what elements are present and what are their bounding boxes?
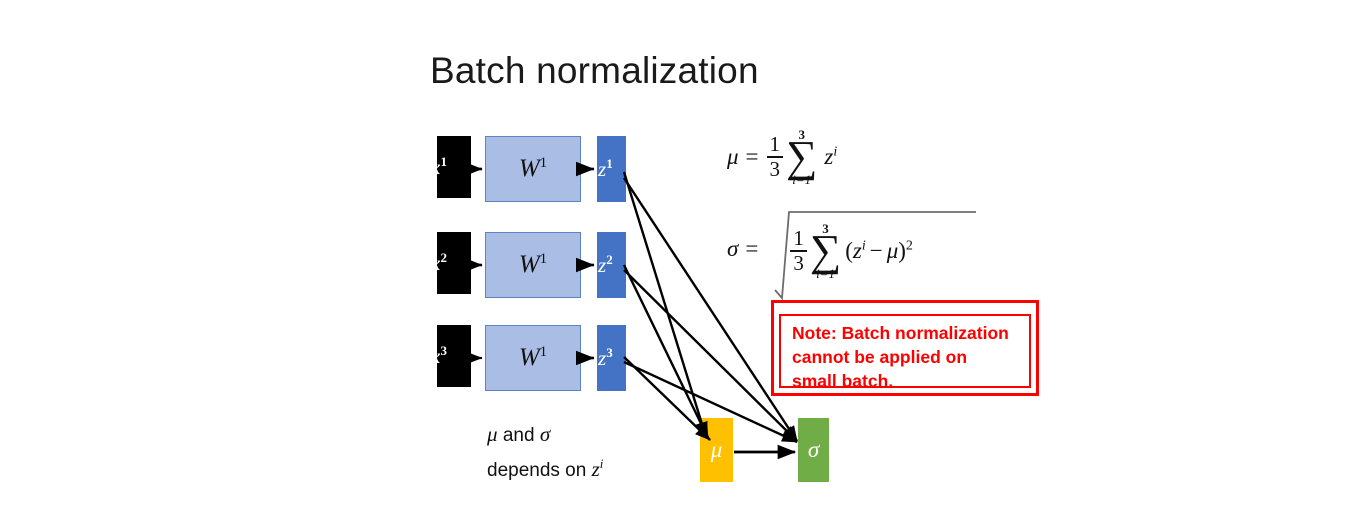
sigma-formula-lhs: σ bbox=[727, 236, 738, 262]
weight-box-w1-row2: W1 bbox=[485, 232, 581, 298]
input-box-x3: x3 bbox=[437, 325, 471, 387]
mu-fraction-numerator: 1 bbox=[767, 134, 784, 156]
caption-line-2: depends on zi bbox=[487, 450, 603, 485]
arrow-z3-to-mu bbox=[624, 357, 710, 440]
mu-formula-equals: = bbox=[746, 144, 759, 170]
sigma-formula: σ = 1 3 3 ∑ i=1 (zi−μ)2 bbox=[727, 218, 913, 280]
arrow-z1-to-mu bbox=[624, 172, 706, 437]
note-callout-inner: Note: Batch normalization cannot be appl… bbox=[779, 314, 1031, 388]
output-box-z2: z2 bbox=[597, 232, 626, 298]
note-text: Note: Batch normalization cannot be appl… bbox=[792, 321, 1024, 393]
mu-box: μ bbox=[700, 418, 733, 482]
mu-fraction-denominator: 3 bbox=[767, 158, 784, 180]
weight-box-w1-row1: W1 bbox=[485, 136, 581, 202]
input-box-x2: x2 bbox=[437, 232, 471, 294]
page-title: Batch normalization bbox=[430, 50, 759, 92]
weight-label-row3: W1 bbox=[486, 344, 580, 372]
mu-summation: 3 ∑ i=1 bbox=[786, 128, 817, 186]
sigma-box: σ bbox=[798, 418, 829, 482]
mu-formula-lhs: μ bbox=[727, 144, 739, 170]
square-root-icon bbox=[773, 202, 978, 310]
summation-icon: ∑ bbox=[786, 140, 817, 174]
mu-box-label: μ bbox=[700, 437, 733, 463]
input-label-x3: x3 bbox=[430, 343, 447, 369]
note-line-1: Note: Batch normalization bbox=[792, 321, 1024, 345]
output-box-z3: z3 bbox=[597, 325, 626, 391]
note-callout-outer: Note: Batch normalization cannot be appl… bbox=[771, 300, 1039, 396]
mu-formula-term: zi bbox=[824, 144, 837, 170]
sigma-radical-group: 1 3 3 ∑ i=1 (zi−μ)2 bbox=[773, 218, 913, 280]
mu-formula-fraction: 1 3 bbox=[767, 134, 784, 180]
note-line-3: small batch. bbox=[792, 369, 1024, 393]
output-box-z1: z1 bbox=[597, 136, 626, 202]
weight-label-row1: W1 bbox=[486, 155, 580, 183]
mu-sum-lower-limit: i=1 bbox=[792, 173, 811, 186]
sigma-box-label: σ bbox=[798, 437, 829, 463]
caption-line-1: μ and σ bbox=[487, 420, 603, 450]
input-label-x1: x1 bbox=[430, 154, 447, 180]
weight-box-w1-row3: W1 bbox=[485, 325, 581, 391]
output-label-z3: z3 bbox=[598, 345, 613, 371]
output-label-z1: z1 bbox=[598, 156, 613, 182]
weight-label-row2: W1 bbox=[486, 251, 580, 279]
sigma-formula-equals: = bbox=[745, 236, 758, 262]
input-box-x1: x1 bbox=[437, 136, 471, 198]
mu-formula: μ = 1 3 3 ∑ i=1 zi bbox=[727, 128, 837, 186]
output-label-z2: z2 bbox=[598, 252, 613, 278]
note-line-2: cannot be applied on bbox=[792, 345, 1024, 369]
input-label-x2: x2 bbox=[430, 250, 447, 276]
slide-canvas: Batch normalization x1 W1 z1 x2 W1 z2 x3… bbox=[0, 0, 1365, 527]
arrow-z2-to-mu bbox=[624, 265, 708, 438]
caption-block: μ and σ depends on zi bbox=[487, 420, 603, 485]
